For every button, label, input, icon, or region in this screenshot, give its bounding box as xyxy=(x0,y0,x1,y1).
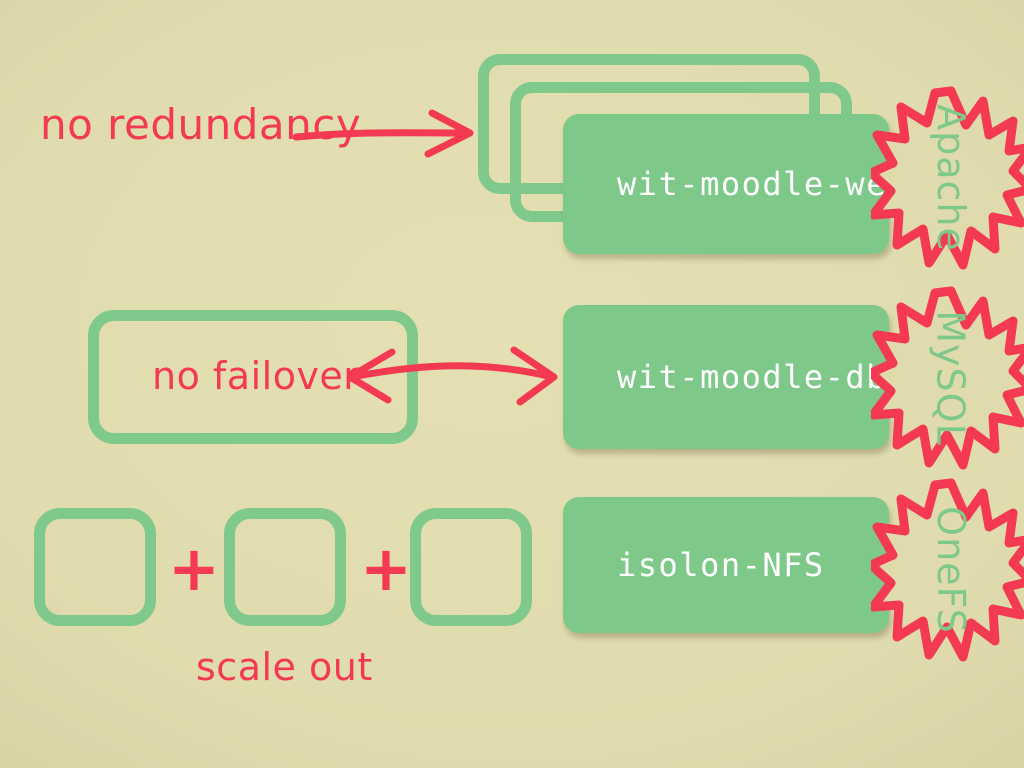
node-wit-moodle-db[interactable]: wit-moodle-db xyxy=(563,305,889,449)
annotation-no-failover: no failover xyxy=(152,354,359,398)
plus-icon-2: + xyxy=(360,538,412,600)
node-isolon-nfs[interactable]: isolon-NFS xyxy=(563,497,889,633)
starburst-icon xyxy=(871,477,1024,663)
node-label-db: wit-moodle-db xyxy=(617,358,887,396)
node-label-nfs: isolon-NFS xyxy=(617,546,825,584)
scale-tile-3 xyxy=(410,508,532,626)
starburst-icon xyxy=(871,85,1024,271)
scale-tile-2 xyxy=(224,508,346,626)
annotation-no-redundancy: no redundancy xyxy=(40,100,361,149)
starburst-icon xyxy=(871,285,1024,471)
badge-apache[interactable]: Apache xyxy=(871,85,1024,271)
slide-canvas: wit-moodle-web Apache no redundancy no f… xyxy=(0,0,1024,768)
scale-tile-1 xyxy=(34,508,156,626)
annotation-scale-out: scale out xyxy=(196,645,373,689)
node-label-web: wit-moodle-web xyxy=(617,165,908,203)
plus-icon-1: + xyxy=(168,538,220,600)
badge-mysql[interactable]: MySQL xyxy=(871,285,1024,471)
node-wit-moodle-web[interactable]: wit-moodle-web xyxy=(563,114,889,254)
badge-onefs[interactable]: OneFS xyxy=(871,477,1024,663)
